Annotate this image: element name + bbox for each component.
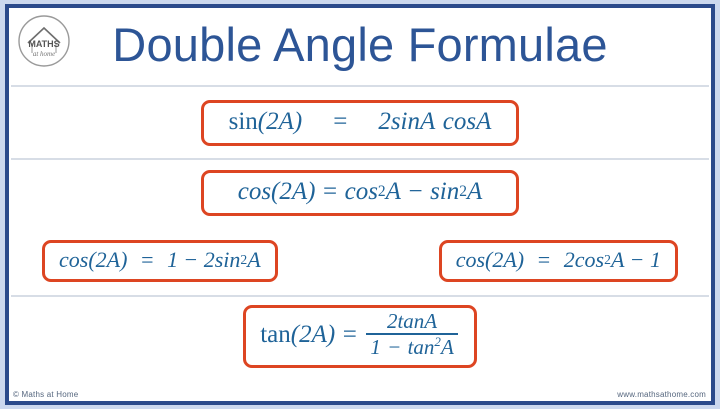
formula-sine-rhs-cos: cosA [443, 108, 492, 136]
formula-cos2-minus: − [185, 247, 197, 273]
formula-sine-rhs-sin: sinA [391, 108, 435, 136]
formula-tan-lhs-fn: tan [260, 321, 291, 349]
formula-cos2-rhs-sin: sin [215, 247, 241, 273]
formula-cos1-lhs-fn: cos [238, 178, 271, 206]
formula-cos2-rhs-coef: 2 [204, 247, 215, 273]
double-angle-formulae-poster: MATHS at home Double Angle Formulae sin(… [0, 0, 720, 409]
formula-cos2-equals: = [141, 247, 153, 273]
formula-cos1-equals: = [323, 178, 337, 206]
formula-row-tangent: tan(2A)= 2tanA 1−tan2A [9, 297, 711, 376]
formula-box-cosine-double-angle-1[interactable]: cos(2A)=cos2A−sin2A [201, 170, 519, 216]
page-title: Double Angle Formulae [9, 10, 711, 80]
formula-cos1-rhs-sin: sin [430, 178, 459, 206]
formula-cos1-minus: − [408, 178, 422, 206]
formula-box-tangent-double-angle[interactable]: tan(2A)= 2tanA 1−tan2A [243, 305, 477, 368]
formula-tan-numerator: 2tanA [383, 310, 441, 333]
formula-row-sine: sin(2A)=2sinAcosA [9, 87, 711, 158]
formula-cos3-rhs-one: 1 [650, 247, 661, 273]
formula-cos3-minus: − [631, 247, 643, 273]
formula-cos2-lhs-arg: (2A) [88, 247, 127, 273]
formula-row-cosine-1: cos(2A)=cos2A−sin2A [9, 160, 711, 226]
formula-cos3-lhs-arg: (2A) [485, 247, 524, 273]
formula-cos3-lhs-fn: cos [456, 247, 485, 273]
formula-cos1-lhs-arg: (2A) [271, 178, 315, 206]
formula-tan-fraction: 2tanA 1−tan2A [366, 310, 457, 359]
formula-cos2-rhs-one: 1 [167, 247, 178, 273]
formula-tan-denominator: 1−tan2A [366, 335, 457, 359]
formula-cos1-rhs-cos-arg: A [386, 178, 401, 206]
formula-sine-lhs-fn: sin [229, 108, 258, 136]
formula-cos2-rhs-sin-arg: A [247, 247, 260, 273]
formula-cos1-rhs-sin-arg: A [467, 178, 482, 206]
poster-content: MATHS at home Double Angle Formulae sin(… [9, 8, 711, 401]
formula-box-sine-double-angle[interactable]: sin(2A)=2sinAcosA [201, 100, 519, 146]
formula-row-cosine-pair: cos(2A)=1−2sin2A cos(2A)=2cos2A−1 [9, 226, 711, 295]
title-row: MATHS at home Double Angle Formulae [9, 8, 711, 85]
formula-sine-rhs-coef: 2 [378, 108, 391, 136]
formula-cos1-rhs-cos: cos [345, 178, 378, 206]
formula-tan-lhs-arg: (2A) [291, 321, 335, 349]
formula-cos3-rhs-coef: 2 [564, 247, 575, 273]
footer-copyright: © Maths at Home [13, 390, 78, 399]
formula-cos3-rhs-cos: cos [575, 247, 604, 273]
formula-sine-lhs-arg: (2A) [258, 108, 302, 136]
formula-cos3-equals: = [538, 247, 550, 273]
formula-pair-wrapper: cos(2A)=1−2sin2A cos(2A)=2cos2A−1 [9, 240, 711, 282]
footer: © Maths at Home www.mathsathome.com [9, 376, 711, 401]
formula-box-cosine-double-angle-3[interactable]: cos(2A)=2cos2A−1 [439, 240, 678, 282]
footer-website[interactable]: www.mathsathome.com [617, 390, 706, 399]
formula-cos3-rhs-cos-arg: A [611, 247, 624, 273]
formula-sine-equals: = [333, 108, 347, 136]
formula-tan-equals: = [343, 321, 357, 349]
formula-box-cosine-double-angle-2[interactable]: cos(2A)=1−2sin2A [42, 240, 278, 282]
formula-cos2-lhs-fn: cos [59, 247, 88, 273]
